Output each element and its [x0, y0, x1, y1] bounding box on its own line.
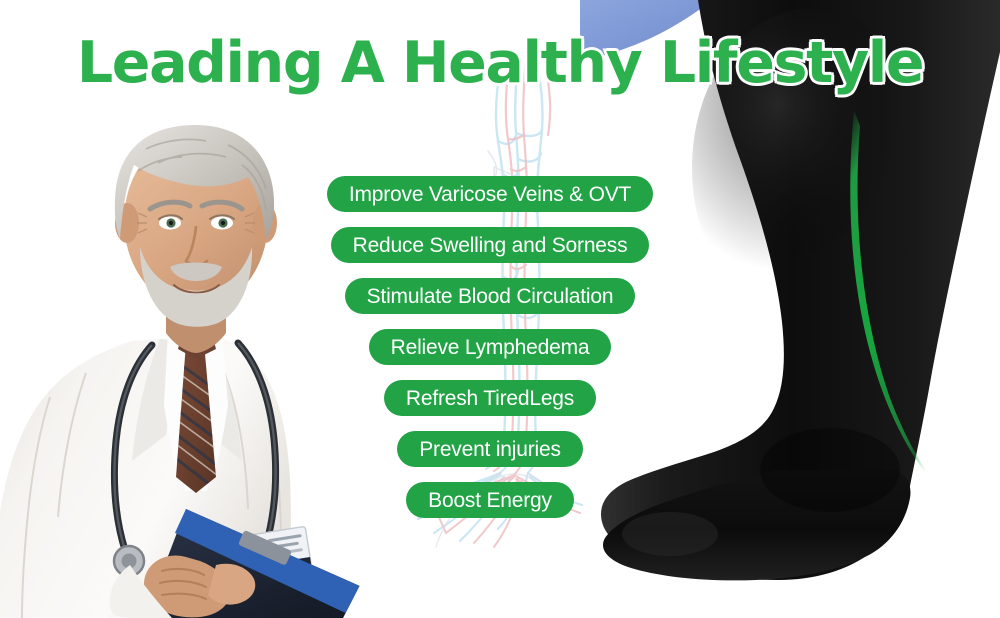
benefit-pill-5: Refresh TiredLegs	[384, 380, 596, 416]
benefit-pill-7: Boost Energy	[406, 482, 574, 518]
benefit-label: Reduce Swelling and Sorness	[353, 235, 628, 256]
benefit-pill-4: Relieve Lymphedema	[369, 329, 612, 365]
benefit-pill-1: Improve Varicose Veins & OVT	[327, 176, 653, 212]
page-title: Leading A Healthy Lifestyle	[0, 32, 1000, 94]
promo-banner: Leading A Healthy Lifestyle Improve Vari…	[0, 0, 1000, 618]
benefit-label: Relieve Lymphedema	[391, 337, 590, 358]
benefit-label: Boost Energy	[428, 490, 552, 511]
benefit-label: Improve Varicose Veins & OVT	[349, 184, 631, 205]
benefits-list: Improve Varicose Veins & OVT Reduce Swel…	[0, 176, 1000, 518]
benefit-pill-2: Reduce Swelling and Sorness	[331, 227, 650, 263]
benefit-pill-3: Stimulate Blood Circulation	[345, 278, 636, 314]
benefit-label: Prevent injuries	[419, 439, 561, 460]
benefit-label: Refresh TiredLegs	[406, 388, 574, 409]
benefit-pill-6: Prevent injuries	[397, 431, 583, 467]
benefit-label: Stimulate Blood Circulation	[367, 286, 614, 307]
